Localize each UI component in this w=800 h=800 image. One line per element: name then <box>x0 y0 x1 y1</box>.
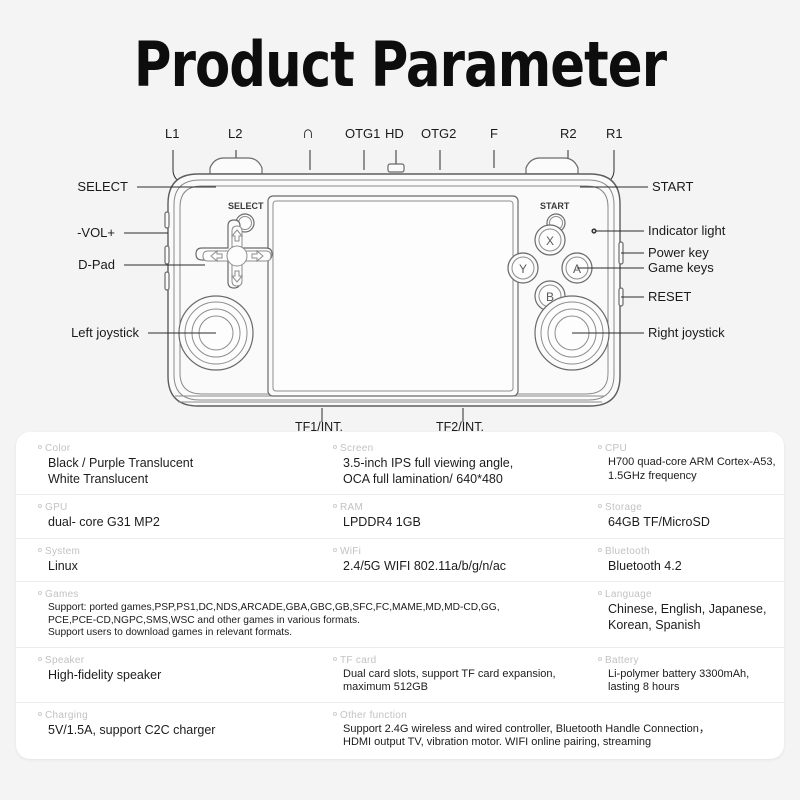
spec-cell-games: Games Support: ported games,PSP,PS1,DC,N… <box>16 589 576 640</box>
spec-value: 3.5-inch IPS full viewing angle, OCA ful… <box>333 456 568 487</box>
bullet-icon <box>38 712 42 716</box>
device-button-y-label: Y <box>519 262 527 276</box>
spec-cell-speaker: Speaker High-fidelity speaker <box>16 655 311 695</box>
spec-cell-tf-card: TF card Dual card slots, support TF card… <box>311 655 576 695</box>
bullet-icon <box>38 548 42 552</box>
spec-cell-gpu: GPU dual- core G31 MP2 <box>16 502 311 531</box>
bullet-icon <box>598 548 602 552</box>
spec-label: Other function <box>333 710 776 721</box>
spec-value: Support 2.4G wireless and wired controll… <box>333 723 776 750</box>
spec-value: H700 quad-core ARM Cortex-A53, 1.5GHz fr… <box>598 456 776 483</box>
spec-label: Speaker <box>38 655 303 666</box>
device-select-label: SELECT <box>228 201 264 211</box>
spec-cell-charging: Charging 5V/1.5A, support C2C charger <box>16 710 311 750</box>
spec-label: GPU <box>38 502 303 513</box>
spec-cell-screen: Screen 3.5-inch IPS full viewing angle, … <box>311 443 576 487</box>
spec-value: 5V/1.5A, support C2C charger <box>38 723 303 739</box>
spec-row: Color Black / Purple Translucent White T… <box>16 436 784 495</box>
spec-value: LPDDR4 1GB <box>333 515 568 531</box>
specifications-card: Color Black / Purple Translucent White T… <box>16 432 784 759</box>
bullet-icon <box>333 504 337 508</box>
spec-label: RAM <box>333 502 568 513</box>
spec-row: System Linux WiFi 2.4/5G WIFI 802.11a/b/… <box>16 539 784 583</box>
spec-label: Games <box>38 589 568 600</box>
spec-cell-color: Color Black / Purple Translucent White T… <box>16 443 311 487</box>
page-title: Product Parameter <box>32 28 768 101</box>
spec-row: Speaker High-fidelity speaker TF card Du… <box>16 648 784 703</box>
spec-value: Support: ported games,PSP,PS1,DC,NDS,ARC… <box>38 602 568 640</box>
spec-cell-system: System Linux <box>16 546 311 575</box>
device-start-label: START <box>540 201 570 211</box>
bullet-icon <box>333 548 337 552</box>
bullet-icon <box>38 504 42 508</box>
spec-label: Storage <box>598 502 776 513</box>
spec-label: Bluetooth <box>598 546 776 557</box>
spec-cell-cpu: CPU H700 quad-core ARM Cortex-A53, 1.5GH… <box>576 443 784 487</box>
bullet-icon <box>333 712 337 716</box>
bullet-icon <box>598 591 602 595</box>
spec-value: Bluetooth 4.2 <box>598 559 776 575</box>
bullet-icon <box>38 445 42 449</box>
spec-cell-language: Language Chinese, English, Japanese, Kor… <box>576 589 784 640</box>
spec-cell-wifi: WiFi 2.4/5G WIFI 802.11a/b/g/n/ac <box>311 546 576 575</box>
spec-label: WiFi <box>333 546 568 557</box>
spec-value: Linux <box>38 559 303 575</box>
spec-label: Charging <box>38 710 303 721</box>
spec-cell-ram: RAM LPDDR4 1GB <box>311 502 576 531</box>
bullet-icon <box>598 445 602 449</box>
device-button-a-label: A <box>573 262 581 276</box>
bullet-icon <box>333 445 337 449</box>
spec-cell-bluetooth: Bluetooth Bluetooth 4.2 <box>576 546 784 575</box>
bullet-icon <box>598 657 602 661</box>
spec-row: Charging 5V/1.5A, support C2C charger Ot… <box>16 703 784 757</box>
spec-value: Chinese, English, Japanese, Korean, Span… <box>598 602 776 633</box>
spec-value: dual- core G31 MP2 <box>38 515 303 531</box>
spec-row: GPU dual- core G31 MP2 RAM LPDDR4 1GB St… <box>16 495 784 539</box>
spec-row: Games Support: ported games,PSP,PS1,DC,N… <box>16 582 784 648</box>
device-button-x-label: X <box>546 234 554 248</box>
spec-label: System <box>38 546 303 557</box>
spec-cell-storage: Storage 64GB TF/MicroSD <box>576 502 784 531</box>
spec-label: Color <box>38 443 303 454</box>
spec-value: Dual card slots, support TF card expansi… <box>333 668 568 695</box>
spec-cell-battery: Battery Li-polymer battery 3300mAh, last… <box>576 655 784 695</box>
spec-value: High-fidelity speaker <box>38 668 303 684</box>
spec-cell-other-function: Other function Support 2.4G wireless and… <box>311 710 784 750</box>
spec-label: Language <box>598 589 776 600</box>
bullet-icon <box>598 504 602 508</box>
product-parameter-page: Product Parameter SELECT <box>0 0 800 800</box>
spec-value: 2.4/5G WIFI 802.11a/b/g/n/ac <box>333 559 568 575</box>
bullet-icon <box>38 591 42 595</box>
spec-label: CPU <box>598 443 776 454</box>
spec-label: Battery <box>598 655 776 666</box>
spec-value: 64GB TF/MicroSD <box>598 515 776 531</box>
spec-label: Screen <box>333 443 568 454</box>
spec-value: Li-polymer battery 3300mAh, lasting 8 ho… <box>598 668 776 695</box>
bullet-icon <box>38 657 42 661</box>
bullet-icon <box>333 657 337 661</box>
spec-label: TF card <box>333 655 568 666</box>
spec-value: Black / Purple Translucent White Translu… <box>38 456 303 487</box>
device-diagram: SELECT START X Y A B <box>0 120 800 430</box>
